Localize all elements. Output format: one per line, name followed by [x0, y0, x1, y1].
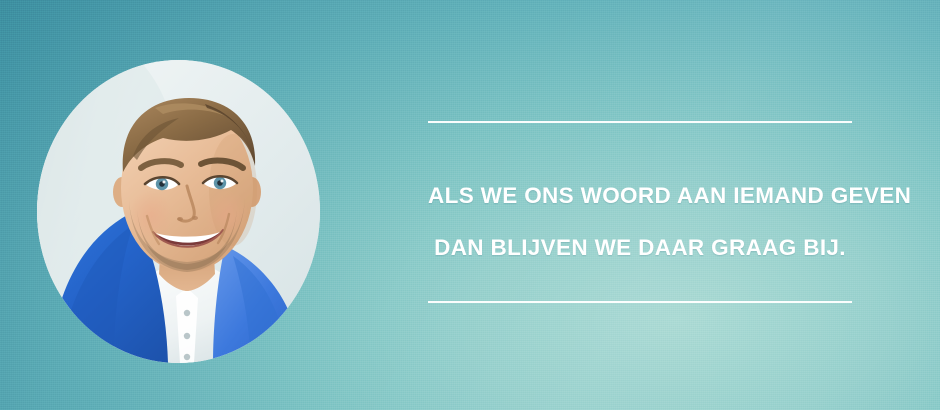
portrait-illustration [37, 60, 320, 363]
quote-block: ALS WE ONS WOORD AAN IEMAND GEVEN DAN BL… [428, 110, 852, 310]
quote-line-2: DAN BLIJVEN WE DAAR GRAAG BIJ. [428, 236, 852, 260]
quote-line-1: ALS WE ONS WOORD AAN IEMAND GEVEN [428, 184, 852, 208]
divider-bottom [428, 301, 852, 303]
portrait-avatar [37, 60, 320, 363]
quote-banner: ALS WE ONS WOORD AAN IEMAND GEVEN DAN BL… [0, 0, 940, 410]
divider-top [428, 121, 852, 123]
